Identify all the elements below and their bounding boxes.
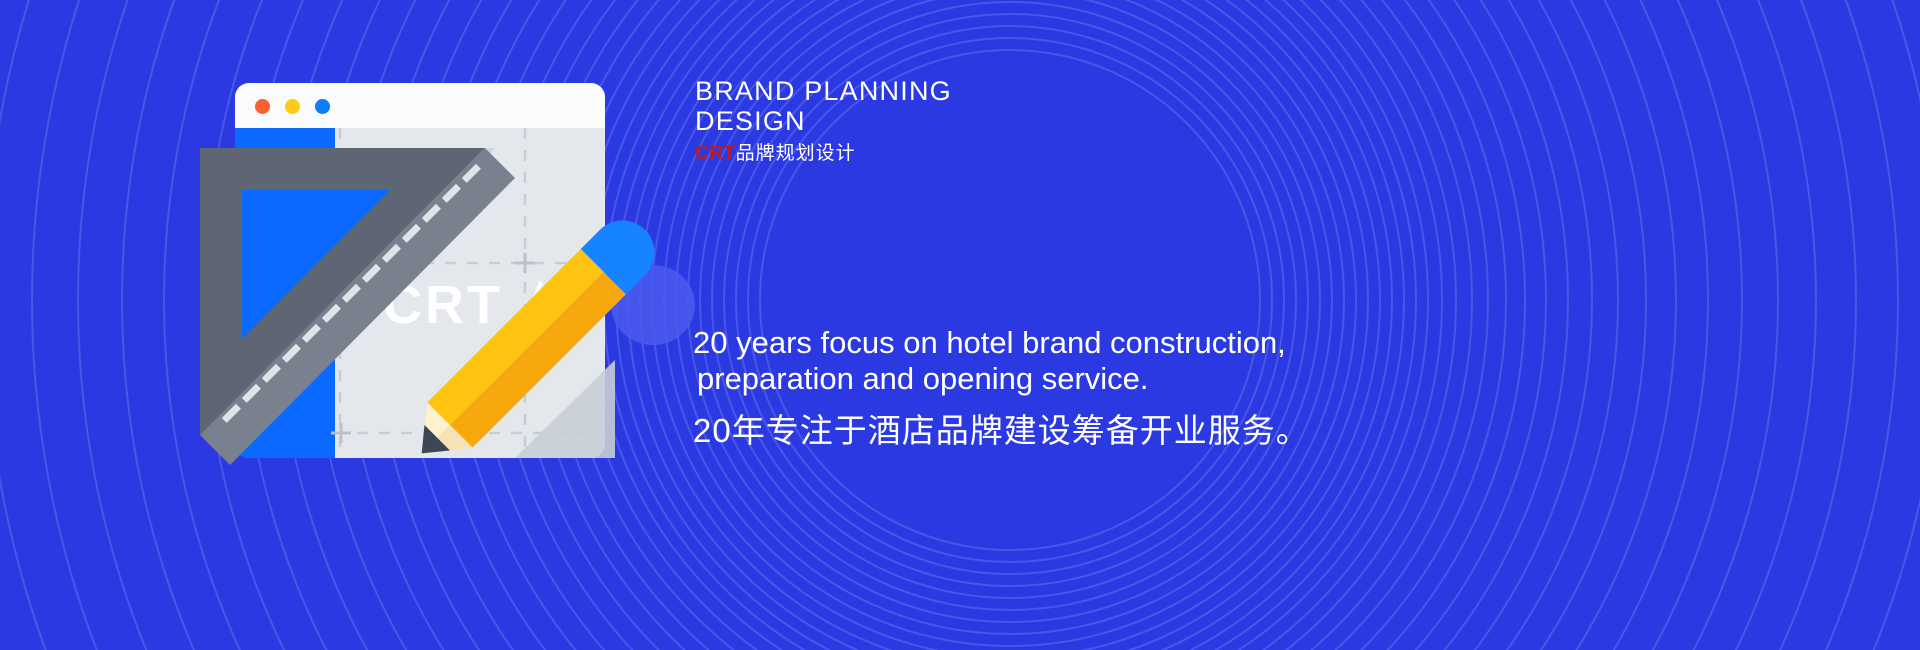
headline-block: BRAND PLANNING DESIGN CRT品牌规划设计 [695, 76, 1255, 166]
tagline-en-line-1: 20 years focus on hotel brand constructi… [693, 325, 1453, 361]
brand-design-illustration: CRT [185, 60, 685, 480]
tagline-cn: 20年专注于酒店品牌建设筹备开业服务。 [693, 411, 1453, 451]
brand-banner: CRT [0, 0, 1920, 650]
headline-subtitle: CRT品牌规划设计 [695, 142, 1255, 166]
tools-overlay [185, 60, 685, 480]
headline-line-2: DESIGN [695, 106, 1255, 136]
tagline-block: 20 years focus on hotel brand constructi… [693, 325, 1453, 451]
tagline-en-line-2: preparation and opening service. [693, 361, 1453, 397]
headline-subtitle-cn: 品牌规划设计 [736, 143, 856, 164]
headline-line-1: BRAND PLANNING [695, 76, 1255, 106]
headline-brand-crt: CRT [695, 143, 736, 164]
